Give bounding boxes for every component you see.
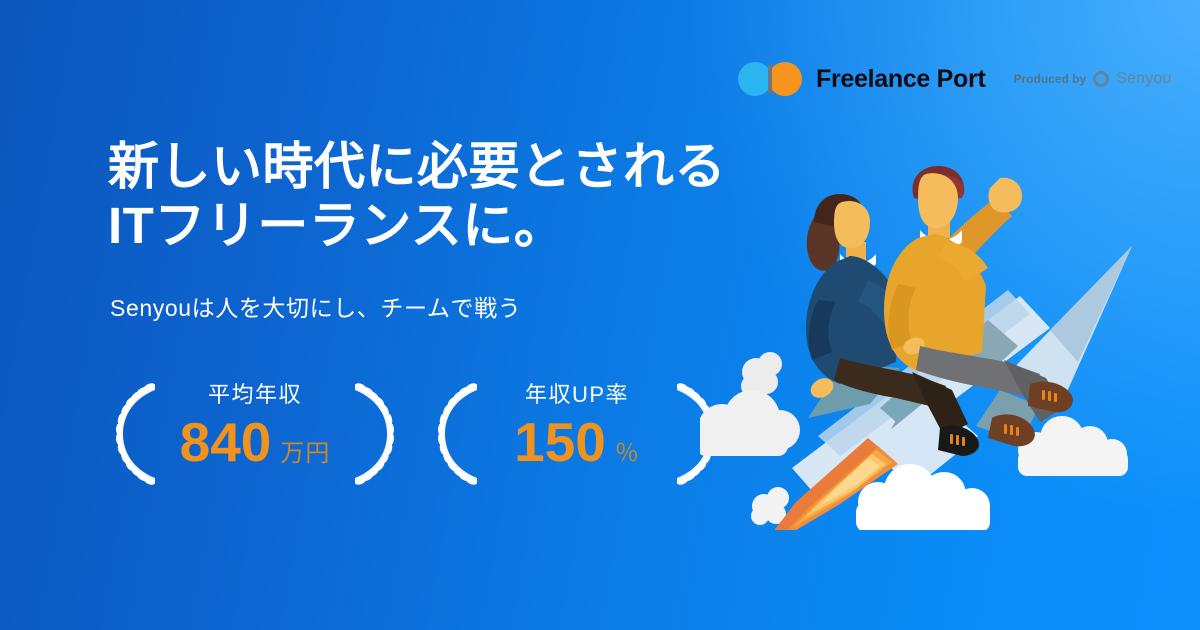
stat-number: 150 bbox=[514, 415, 606, 470]
stat-value-group: 840 万円 bbox=[180, 415, 331, 470]
laurel-wreath-icon bbox=[347, 378, 399, 490]
hero-copy: 新しい時代に必要とされる ITフリーランスに。 bbox=[108, 137, 768, 255]
stat-unit: ％ bbox=[615, 442, 640, 466]
logo-circle-overlap bbox=[768, 65, 772, 93]
stat-card: 年収UP率 150 ％ bbox=[427, 378, 727, 490]
produced-by-label: Produced by bbox=[1013, 72, 1086, 86]
cloud-icon bbox=[1018, 416, 1128, 476]
venn-circles-icon bbox=[738, 62, 802, 96]
produced-by-group: Produced by Senyou bbox=[1013, 70, 1171, 88]
senyou-ring-icon bbox=[1093, 71, 1109, 87]
hero-banner: Freelance Port Produced by Senyou 新しい時代に… bbox=[0, 0, 1200, 630]
stat-value-group: 150 ％ bbox=[514, 415, 640, 470]
hero-subtitle: Senyouは人を大切にし、チームで戦う bbox=[110, 289, 521, 323]
cloud-icon bbox=[700, 390, 800, 456]
logo-circle-cyan bbox=[738, 62, 772, 96]
headline-line-2: ITフリーランスに。 bbox=[108, 196, 768, 255]
stat-label: 年収UP率 bbox=[525, 384, 629, 406]
stat-card: 平均年収 840 万円 bbox=[105, 378, 405, 490]
logo-circle-orange bbox=[768, 62, 802, 96]
brand-name: Freelance Port bbox=[816, 65, 985, 94]
headline-line-1: 新しい時代に必要とされる bbox=[108, 137, 768, 196]
cloud-icon bbox=[741, 352, 782, 397]
stats-row: 平均年収 840 万円 bbox=[105, 378, 727, 490]
brand-bar: Freelance Port Produced by Senyou bbox=[738, 62, 1172, 96]
producer-name: Senyou bbox=[1116, 70, 1171, 88]
stat-unit: 万円 bbox=[280, 442, 330, 466]
two-people-riding-rocket-illustration bbox=[700, 150, 1160, 530]
stat-label: 平均年収 bbox=[208, 384, 302, 406]
stat-number: 840 bbox=[180, 415, 272, 470]
